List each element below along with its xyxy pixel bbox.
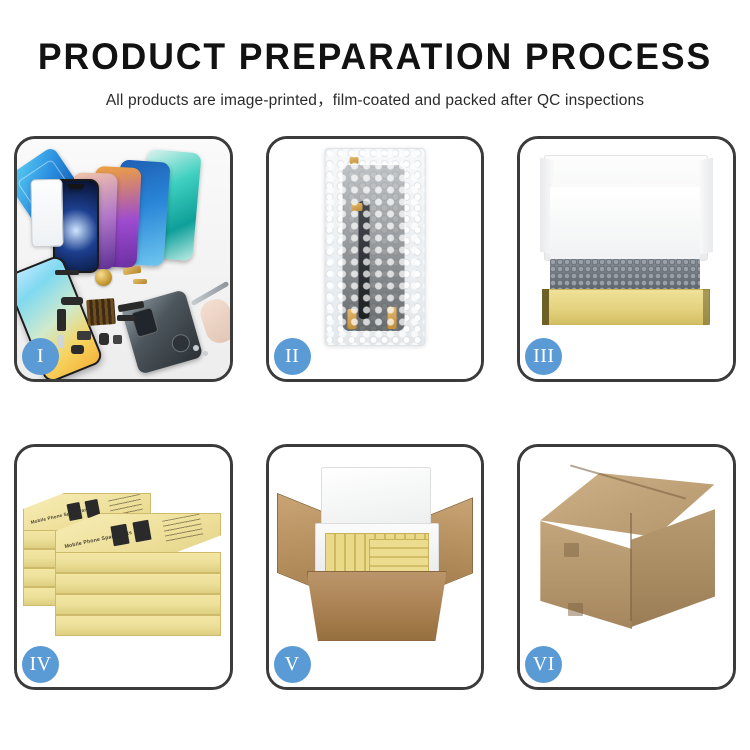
wrapped-screen-part (342, 165, 404, 331)
tape-piece-3 (347, 309, 356, 329)
step-badge-1: I (22, 338, 59, 375)
speaker-module (95, 269, 112, 286)
step-panel-3: III (517, 136, 736, 382)
tape-piece-2 (351, 203, 362, 211)
page-subtitle: All products are image-printed，film-coat… (0, 88, 750, 110)
step-panel-4: Mobile Phone Spare Parts Mobile Phone Sp… (14, 444, 233, 690)
wrapped-flex-cable (358, 201, 369, 319)
logic-board (86, 298, 116, 326)
step-panel-1: I (14, 136, 233, 382)
tape-piece-1 (349, 157, 358, 164)
step-panel-6: VI (517, 444, 736, 690)
box-art-screen-f1 (110, 524, 129, 546)
speaker-mesh (71, 345, 84, 354)
small-chip (113, 335, 122, 344)
bubble-wrap-bag (324, 148, 425, 346)
grey-bubble-wrap-layer (550, 259, 700, 291)
screw-1 (193, 345, 199, 351)
flex-cable-1 (55, 270, 79, 275)
box-art-screen-b1 (66, 502, 82, 521)
flex-cable-5 (117, 315, 135, 321)
white-foam-sheet (550, 187, 700, 259)
product-preparation-infographic: PRODUCT PREPARATION PROCESS All products… (0, 0, 750, 750)
gold-connector-1 (123, 266, 142, 275)
tempered-glass-sheet (30, 179, 63, 248)
technician-hand (197, 295, 230, 346)
vibrator-module (99, 333, 109, 345)
carton-body (307, 571, 447, 641)
sim-tray (57, 335, 64, 348)
step-badge-4: IV (22, 646, 59, 683)
stack-box-fr-4 (55, 615, 221, 636)
carton-tape-mark-1 (564, 543, 579, 557)
box-art-screen-f2 (132, 520, 151, 542)
flex-cable-2 (61, 297, 83, 305)
carton-front-face (540, 521, 632, 629)
yellow-box-base (542, 289, 710, 325)
flex-cable-3 (57, 309, 66, 331)
camera-module (77, 331, 91, 340)
step-panel-5: V (266, 444, 485, 690)
carton-corner-seam (630, 513, 632, 621)
carton-tape-mark-2 (568, 603, 583, 616)
gold-connector-2 (133, 279, 147, 284)
step-badge-2: II (274, 338, 311, 375)
page-title: PRODUCT PREPARATION PROCESS (15, 38, 735, 75)
tape-piece-4 (387, 307, 396, 329)
box-spec-text-front (162, 514, 204, 545)
stack-box-fr-1 (55, 552, 221, 573)
foam-cooler-lid (321, 467, 431, 531)
stack-box-fr-2 (55, 573, 221, 594)
header: PRODUCT PREPARATION PROCESS All products… (0, 0, 750, 110)
box-lid-flap-right (699, 158, 713, 254)
step-panel-2: II (266, 136, 485, 382)
stack-box-fr-3 (55, 594, 221, 615)
screw-2 (203, 351, 208, 356)
box-stack: Mobile Phone Spare Parts Mobile Phone Sp… (23, 467, 229, 657)
phone-notch (68, 184, 85, 189)
process-steps-grid: I II (14, 136, 736, 690)
yellow-boxes-row-2 (369, 539, 429, 575)
step-badge-5: V (274, 646, 311, 683)
